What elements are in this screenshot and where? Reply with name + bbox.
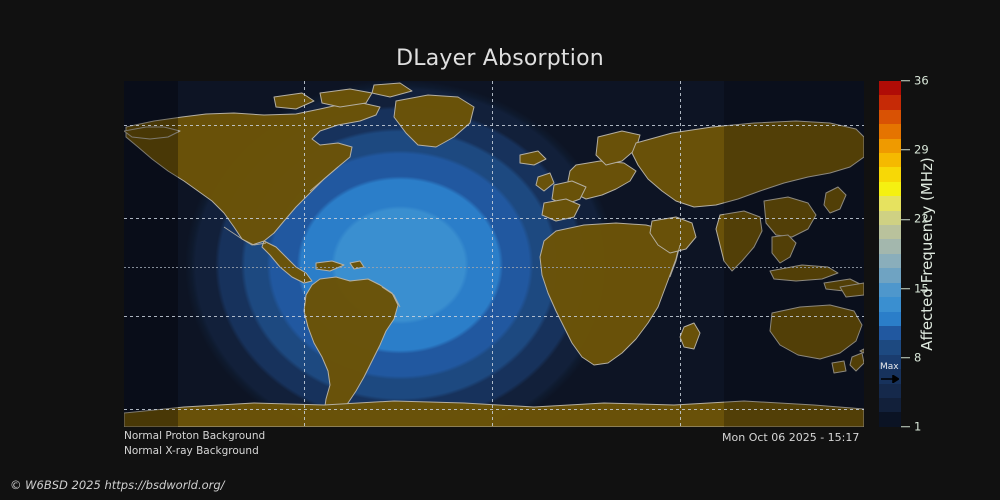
tick-dash [901,150,910,151]
colorbar-band [879,326,901,340]
proton-background-note: Normal Proton Background [124,430,265,442]
colorbar-band [879,124,901,138]
colorbar-band [879,297,901,311]
tick-dash [901,219,910,220]
tick-dash [901,288,910,289]
colorbar-max-label: Max [880,363,899,372]
colorbar-band [879,95,901,109]
colorbar-band [879,153,901,167]
colorbar-band [879,239,901,253]
colorbar-band [879,81,901,95]
colorbar-band [879,283,901,297]
colorbar-band [879,254,901,268]
world-map[interactable] [124,81,864,427]
colorbar-band [879,340,901,354]
colorbar-band [879,398,901,412]
terminator-east [724,81,864,427]
colorbar-band [879,225,901,239]
colorbar-band [879,412,901,426]
tick-dash [901,427,910,428]
colorbar-band [879,312,901,326]
colorbar-title-wrap: Affected Frequency (MHz) [916,81,938,427]
colorbar-band [879,167,901,181]
colorbar-band [879,110,901,124]
tick-dash [901,357,910,358]
colorbar-title: Affected Frequency (MHz) [918,157,936,351]
colorbar-band [879,268,901,282]
colorbar-band [879,211,901,225]
colorbar-band [879,139,901,153]
copyright-notice: © W6BSD 2025 https://bsdworld.org/ [10,478,225,492]
xray-background-note: Normal X-ray Background [124,445,259,457]
colorbar-band [879,196,901,210]
terminator-west [124,81,178,427]
tick-dash [901,81,910,82]
colorbar-max-marker: Max [879,364,901,386]
dlayer-absorption-screen: DLayer Absorption [0,0,1000,500]
page-title: DLayer Absorption [0,46,1000,71]
max-arrow-icon [881,375,899,383]
timestamp: Mon Oct 06 2025 - 15:17 [722,431,859,444]
colorbar-band [879,182,901,196]
